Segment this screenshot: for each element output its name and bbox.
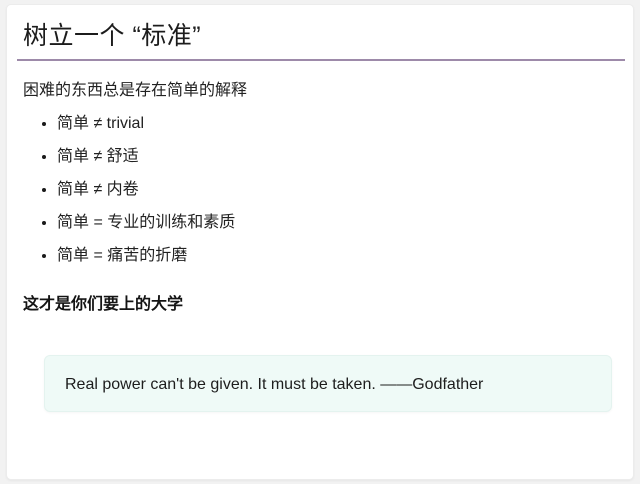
bullet-list: 简单 ≠ trivial 简单 ≠ 舒适 简单 ≠ 内卷 简单 = 专业的训练和…	[23, 113, 603, 278]
closing-statement: 这才是你们要上的大学	[23, 293, 183, 317]
slide-card: 树立一个 “标准” 困难的东西总是存在简单的解释 简单 ≠ trivial 简单…	[6, 4, 634, 480]
bullet-dot-icon	[42, 122, 46, 126]
bullet-dot-icon	[42, 254, 46, 258]
list-item: 简单 ≠ 舒适	[23, 146, 603, 168]
bullet-dot-icon	[42, 155, 46, 159]
quote-callout: Real power can't be given. It must be ta…	[44, 355, 612, 412]
lead-paragraph: 困难的东西总是存在简单的解释	[23, 79, 247, 103]
page-title: 树立一个 “标准”	[23, 19, 201, 53]
list-item: 简单 = 痛苦的折磨	[23, 245, 603, 267]
list-item: 简单 ≠ trivial	[23, 113, 603, 135]
list-item-label: 简单 = 痛苦的折磨	[57, 247, 187, 264]
title-divider	[17, 59, 625, 61]
list-item: 简单 = 专业的训练和素质	[23, 212, 603, 234]
list-item-label: 简单 ≠ 内卷	[57, 181, 139, 198]
list-item-label: 简单 ≠ 舒适	[57, 148, 139, 165]
quote-text: Real power can't be given. It must be ta…	[65, 374, 483, 396]
bullet-dot-icon	[42, 221, 46, 225]
list-item-label: 简单 = 专业的训练和素质	[57, 214, 235, 231]
bullet-dot-icon	[42, 188, 46, 192]
list-item: 简单 ≠ 内卷	[23, 179, 603, 201]
list-item-label: 简单 ≠ trivial	[57, 115, 144, 132]
